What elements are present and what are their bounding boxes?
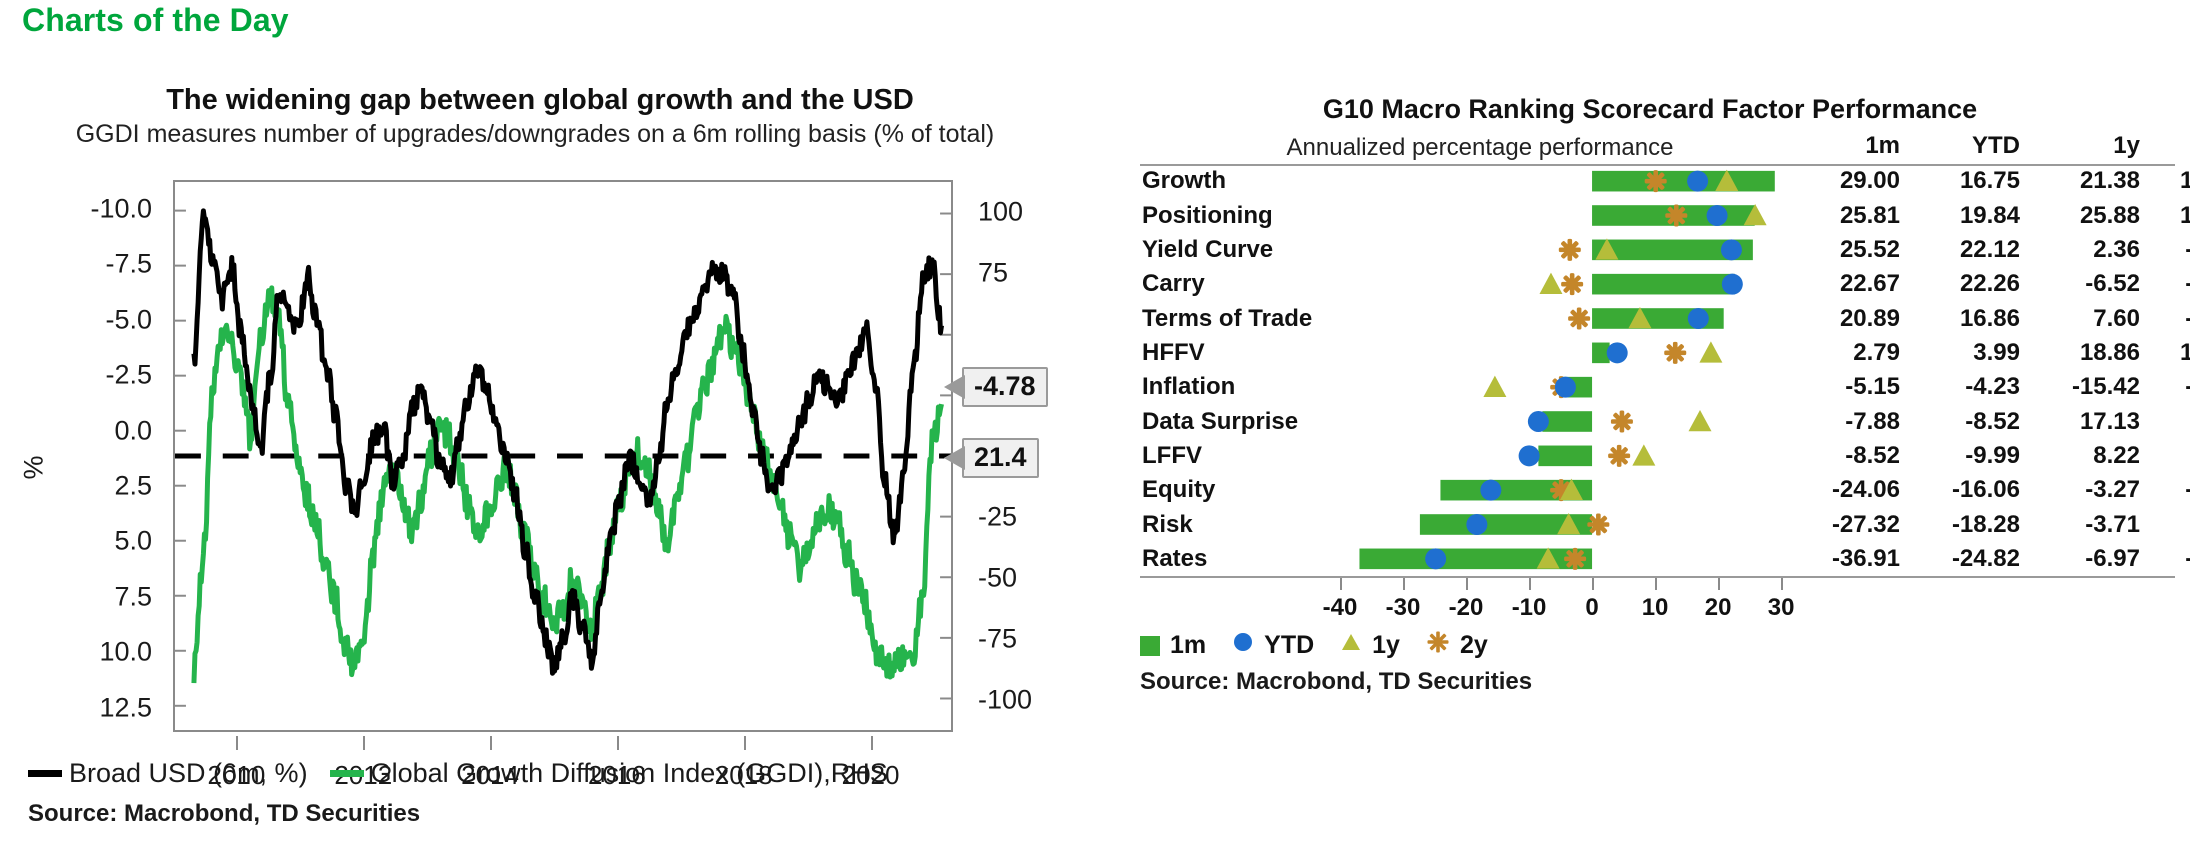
legend-label-1m: 1m — [1170, 631, 1206, 660]
table-cell: 2.79 — [1800, 339, 1900, 367]
x-axis-tick: 20 — [1705, 594, 1732, 622]
x-axis-tickmark — [1403, 578, 1405, 590]
right-chart-subtitle: Annualized percentage performance — [1195, 134, 1765, 162]
marker-ytd — [1425, 548, 1446, 569]
marker-1y — [1632, 444, 1655, 465]
table-cell: -3.53 — [2140, 236, 2190, 264]
right-chart-title: G10 Macro Ranking Scorecard Factor Perfo… — [1140, 94, 2160, 125]
table-cell: -2.05 — [2140, 305, 2190, 333]
table-cell: -5.15 — [1800, 373, 1900, 401]
left-chart-title: The widening gap between global growth a… — [30, 84, 1050, 117]
table-cell: 19.84 — [1920, 202, 2020, 230]
table-cell: -3.27 — [2040, 476, 2140, 504]
left-chart-source: Source: Macrobond, TD Securities — [28, 800, 420, 828]
y-axis-right-tick: -50 — [978, 563, 1017, 594]
table-cell: 13.20 — [2140, 339, 2190, 367]
x-axis-tickmark — [1655, 578, 1657, 590]
bar — [1542, 411, 1592, 432]
y-axis-left-tick: 0.0 — [114, 415, 152, 446]
table-cell: 2.36 — [2040, 236, 2140, 264]
column-header-2y: 2y — [2140, 132, 2190, 160]
table-cell: -8.52 — [1800, 442, 1900, 470]
x-axis-tickmark — [617, 736, 619, 750]
left-chart-legend: Broad USD (6m, %) Global Growth Diffusio… — [28, 758, 888, 789]
legend-item-2y: 2y — [1426, 630, 1488, 661]
x-axis-tickmark — [1718, 578, 1720, 590]
table-cell: 3.99 — [1920, 339, 2020, 367]
marker-ytd — [1466, 514, 1487, 535]
table-cell: -27.32 — [1800, 511, 1900, 539]
page-root: Charts of the Day The widening gap betwe… — [0, 0, 2190, 866]
x-axis-tickmark — [1781, 578, 1783, 590]
callout-arrow-icon — [944, 447, 964, 469]
table-cell: -6.52 — [2040, 270, 2140, 298]
table-row-label: HFFV — [1142, 339, 1205, 367]
x-axis-tick: 0 — [1585, 594, 1598, 622]
callout-ggdi-value: 21.4 — [974, 442, 1027, 472]
y-axis-right-tick: -75 — [978, 624, 1017, 655]
table-row-label: Terms of Trade — [1142, 305, 1312, 333]
table-cell: -24.06 — [1800, 476, 1900, 504]
table-cell: -4.23 — [1920, 373, 2020, 401]
y-axis-left-tick: -5.0 — [105, 304, 152, 335]
x-axis-tickmark — [1466, 578, 1468, 590]
right-chart-x-axis: -40-30-20-100102030 — [1340, 578, 1800, 628]
table-cell: -16.06 — [1920, 476, 2020, 504]
x-axis-tick: -40 — [1323, 594, 1358, 622]
marker-1y — [1699, 341, 1722, 362]
legend-item-1y: 1y — [1340, 631, 1400, 660]
x-axis-tick: 30 — [1768, 594, 1795, 622]
table-cell: 16.75 — [1920, 167, 2020, 195]
callout-arrow-icon — [944, 376, 964, 398]
table-cell: 10.10 — [2140, 167, 2190, 195]
y-axis-right-tick: 100 — [978, 196, 1023, 227]
y-axis-left-tick: -2.5 — [105, 360, 152, 391]
marker-ytd — [1687, 171, 1708, 192]
table-cell: -3.71 — [2040, 511, 2140, 539]
table-row-label: Equity — [1142, 476, 1215, 504]
callout-broad-usd-value: -4.78 — [974, 371, 1036, 401]
table-cell: -18.28 — [1920, 511, 2020, 539]
left-chart-plot-area — [173, 180, 953, 732]
left-chart-y-axis-label: % — [19, 455, 50, 479]
table-cell: 22.67 — [1800, 270, 1900, 298]
legend-swatch-ggdi — [330, 770, 364, 777]
x-axis-tickmark — [744, 736, 746, 750]
y-axis-right-tick: -25 — [978, 502, 1017, 533]
table-cell: -2.69 — [2140, 545, 2190, 573]
table-row-label: Risk — [1142, 511, 1193, 539]
y-axis-right-tick: 75 — [978, 257, 1008, 288]
legend-item-ytd: YTD — [1232, 631, 1314, 660]
x-axis-tick: -30 — [1386, 594, 1421, 622]
y-axis-left-tick: 5.0 — [114, 526, 152, 557]
legend-item-1m: 1m — [1140, 631, 1206, 660]
callout-ggdi: 21.4 — [962, 438, 1039, 478]
y-axis-left-tick: 10.0 — [99, 637, 152, 668]
y-axis-right-tick: -100 — [978, 685, 1032, 716]
table-cell: -9.99 — [1920, 442, 2020, 470]
y-axis-left-tick: 2.5 — [114, 470, 152, 501]
x-axis-tickmark — [236, 736, 238, 750]
right-chart-panel: G10 Macro Ranking Scorecard Factor Perfo… — [1140, 72, 2190, 772]
table-cell: -6.97 — [2040, 545, 2140, 573]
table-row-label: Inflation — [1142, 373, 1235, 401]
y-axis-left-tick: 7.5 — [114, 581, 152, 612]
table-cell: -36.91 — [1800, 545, 1900, 573]
right-chart-plot-area — [1340, 164, 1800, 576]
table-row-label: Data Surprise — [1142, 408, 1298, 436]
table-cell: -8.52 — [1920, 408, 2020, 436]
marker-1y — [1539, 273, 1562, 294]
table-cell: 21.38 — [2040, 167, 2140, 195]
legend-label-2y: 2y — [1460, 631, 1488, 660]
legend-triangle-icon — [1340, 631, 1362, 660]
marker-ytd — [1721, 239, 1742, 260]
table-cell: 29.00 — [1800, 167, 1900, 195]
right-chart-legend: 1m YTD 1y 2y — [1140, 630, 1514, 661]
legend-swatch-broad-usd — [28, 770, 62, 777]
table-cell: 4.30 — [2140, 442, 2190, 470]
table-cell: 22.26 — [1920, 270, 2020, 298]
legend-label-ggdi: Global Growth Diffusion Index (GGDI),RHS — [371, 758, 888, 789]
table-row-label: Rates — [1142, 545, 1207, 573]
table-cell: 4.74 — [2140, 408, 2190, 436]
table-cell: -24.82 — [1920, 545, 2020, 573]
left-chart-panel: The widening gap between global growth a… — [0, 72, 1090, 862]
marker-ytd — [1555, 377, 1576, 398]
table-row-label: LFFV — [1142, 442, 1202, 470]
table-cell: -4.91 — [2140, 476, 2190, 504]
marker-ytd — [1688, 308, 1709, 329]
legend-label-ytd: YTD — [1264, 631, 1314, 660]
bar — [1592, 274, 1735, 295]
table-cell: 17.13 — [2040, 408, 2140, 436]
marker-ytd — [1519, 445, 1540, 466]
table-cell: 13.37 — [2140, 202, 2190, 230]
marker-1y — [1483, 376, 1506, 397]
bar — [1538, 446, 1592, 467]
legend-star-icon — [1426, 630, 1450, 661]
marker-1y — [1688, 410, 1711, 431]
y-axis-left-tick: -7.5 — [105, 249, 152, 280]
table-cell: 8.22 — [2040, 442, 2140, 470]
legend-label-broad-usd: Broad USD (6m, %) — [69, 758, 308, 789]
table-cell: -4.90 — [2140, 373, 2190, 401]
x-axis-tick: -10 — [1512, 594, 1547, 622]
marker-ytd — [1480, 480, 1501, 501]
x-axis-tickmark — [363, 736, 365, 750]
table-row-label: Growth — [1142, 167, 1226, 195]
left-chart-subtitle: GGDI measures number of upgrades/downgra… — [30, 120, 1040, 150]
right-chart-source: Source: Macrobond, TD Securities — [1140, 668, 1532, 696]
table-cell: 1.00 — [2140, 511, 2190, 539]
left-chart-svg — [175, 182, 951, 730]
x-axis-tickmark — [1340, 578, 1342, 590]
marker-ytd — [1528, 411, 1549, 432]
x-axis-tick: -20 — [1449, 594, 1484, 622]
column-header-ytd: YTD — [1920, 132, 2020, 160]
x-axis-tickmark — [490, 736, 492, 750]
right-chart-svg — [1340, 164, 1800, 576]
marker-ytd — [1722, 274, 1743, 295]
table-cell: 16.86 — [1920, 305, 2020, 333]
table-cell: 7.60 — [2040, 305, 2140, 333]
y-axis-left-tick: -10.0 — [90, 193, 152, 224]
marker-ytd — [1707, 205, 1728, 226]
page-title: Charts of the Day — [22, 2, 289, 39]
bar — [1592, 171, 1775, 192]
table-cell: 18.86 — [2040, 339, 2140, 367]
y-axis-left-tick: 12.5 — [99, 692, 152, 723]
table-cell: 22.12 — [1920, 236, 2020, 264]
table-cell: -7.88 — [1800, 408, 1900, 436]
callout-broad-usd: -4.78 — [962, 367, 1048, 407]
x-axis-tickmark — [871, 736, 873, 750]
table-cell: -15.42 — [2040, 373, 2140, 401]
table-row-label: Carry — [1142, 270, 1205, 298]
table-cell: 25.81 — [1800, 202, 1900, 230]
legend-label-1y: 1y — [1372, 631, 1400, 660]
column-header-1y: 1y — [2040, 132, 2140, 160]
table-row-label: Yield Curve — [1142, 236, 1273, 264]
table-cell: -3.16 — [2140, 270, 2190, 298]
legend-square-icon — [1140, 636, 1160, 656]
x-axis-tickmark — [1529, 578, 1531, 590]
column-header-1m: 1m — [1800, 132, 1900, 160]
table-cell: 20.89 — [1800, 305, 1900, 333]
x-axis-tick: 10 — [1642, 594, 1669, 622]
table-cell: 25.88 — [2040, 202, 2140, 230]
legend-circle-icon — [1232, 631, 1254, 660]
table-row-label: Positioning — [1142, 202, 1273, 230]
x-axis-tickmark — [1592, 578, 1594, 590]
table-cell: 25.52 — [1800, 236, 1900, 264]
marker-ytd — [1607, 342, 1628, 363]
